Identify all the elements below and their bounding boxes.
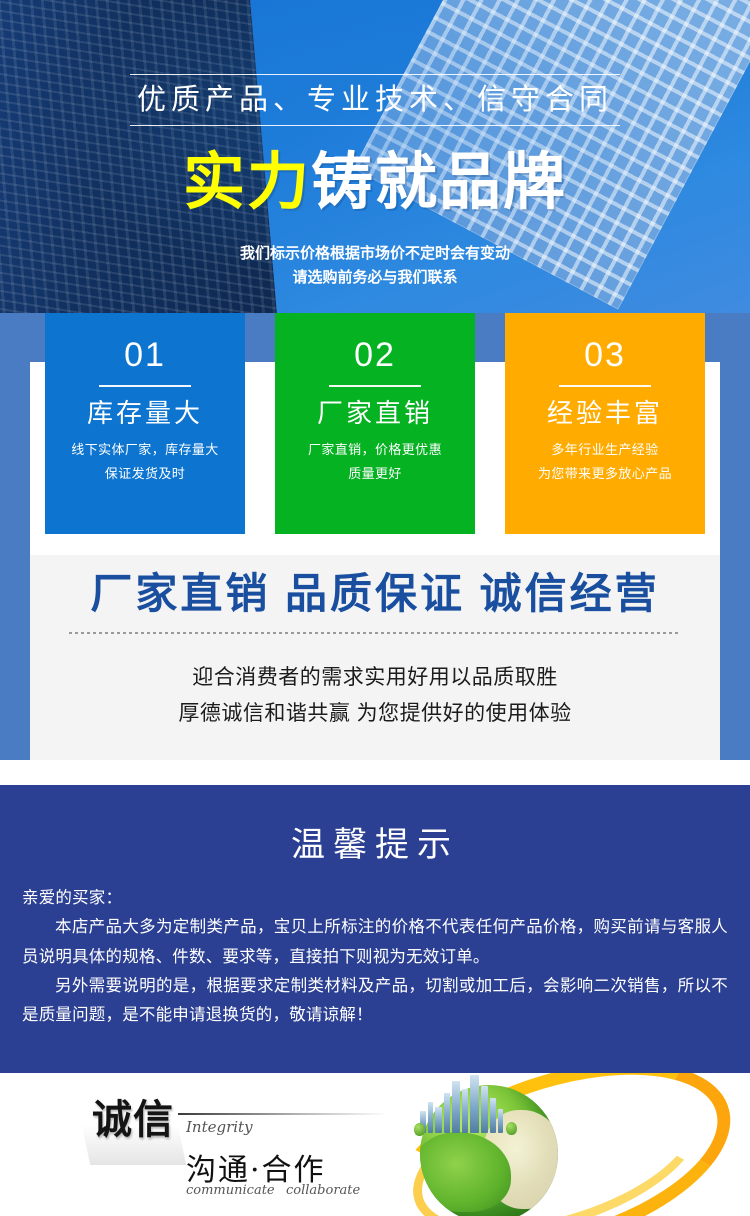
promo-page: 优质产品、专业技术、信守合同 实力铸就品牌 我们标示价格根据市场价不定时会有变动… (0, 0, 750, 1216)
hero-eyebrow-block: 优质产品、专业技术、信守合同 (130, 74, 620, 126)
feature-card-03[interactable]: 03 经验丰富 多年行业生产经验 为您带来更多放心产品 (505, 313, 705, 534)
feature-card-desc-line-2: 保证发货及时 (71, 462, 218, 486)
feature-card-01[interactable]: 01 库存量大 线下实体厂家，库存量大 保证发货及时 (45, 313, 245, 534)
footer-horizontal-rule (178, 1113, 388, 1115)
feature-card-divider (329, 385, 421, 387)
panel-blue-frame-right (720, 313, 750, 760)
footer-integrity-en: Integrity (186, 1118, 253, 1136)
hero-eyebrow-text: 优质产品、专业技术、信守合同 (130, 75, 620, 125)
warm-tips-section: 温馨提示 亲爱的买家： 本店产品大多为定制类产品，宝贝上所标注的价格不代表任何产… (0, 785, 750, 1073)
feature-card-title: 库存量大 (87, 398, 203, 429)
globe-graphic (390, 1073, 750, 1216)
feature-card-desc-line-2: 质量更好 (308, 462, 442, 486)
footer-integrity-cn: 诚信 (92, 1087, 174, 1145)
feature-card-desc-line-1: 多年行业生产经验 (538, 438, 672, 462)
warm-tips-body: 亲爱的买家： 本店产品大多为定制类产品，宝贝上所标注的价格不代表任何产品价格，购… (22, 884, 728, 1031)
panel-blue-frame-left (0, 313, 30, 760)
feature-card-number: 01 (124, 338, 166, 372)
slogan-dotted-divider (69, 632, 681, 634)
feature-card-description: 线下实体厂家，库存量大 保证发货及时 (71, 438, 218, 486)
hero-price-note: 我们标示价格根据市场价不定时会有变动 请选购前务必与我们联系 (0, 242, 750, 291)
footer-collaborate-en: collaborate (286, 1183, 360, 1198)
feature-card-number: 03 (584, 338, 626, 372)
slogan-block: 厂家直销 品质保证 诚信经营 迎合消费者的需求实用好用以品质取胜 厚德诚信和谐共… (30, 555, 720, 760)
feature-card-title: 厂家直销 (317, 398, 433, 429)
feature-card-divider (99, 385, 191, 387)
slogan-main-text: 厂家直销 品质保证 诚信经营 (30, 568, 720, 619)
feature-card-description: 多年行业生产经验 为您带来更多放心产品 (538, 438, 672, 486)
feature-card-desc-line-1: 线下实体厂家，库存量大 (71, 438, 218, 462)
hero-banner: 优质产品、专业技术、信守合同 实力铸就品牌 我们标示价格根据市场价不定时会有变动… (0, 0, 750, 313)
footer-communicate-en: communicate (186, 1183, 275, 1198)
footer-integrity-banner: 诚信 Integrity 沟通·合作 communicate collabora… (0, 1073, 750, 1216)
eyebrow-rule-bottom (130, 125, 620, 126)
feature-card-divider (559, 385, 651, 387)
hero-headline: 实力铸就品牌 (0, 152, 750, 214)
warm-tips-paragraph-2: 另外需要说明的是，根据要求定制类材料及产品，切割或加工后，会影响二次销售，所以不… (22, 972, 728, 1031)
feature-card-list: 01 库存量大 线下实体厂家，库存量大 保证发货及时 02 厂家直销 厂家直销，… (45, 313, 705, 534)
slogan-sub-line-2: 厚德诚信和谐共赢 为您提供好的使用体验 (30, 696, 720, 732)
hero-note-line-1: 我们标示价格根据市场价不定时会有变动 (0, 242, 750, 266)
warm-tips-paragraph-1: 本店产品大多为定制类产品，宝贝上所标注的价格不代表任何产品价格，购买前请与客服人… (22, 913, 728, 972)
warm-tips-greeting: 亲爱的买家： (22, 884, 728, 913)
hero-headline-highlight: 实力 (183, 148, 311, 217)
hero-headline-rest: 铸就品牌 (311, 148, 567, 217)
slogan-sub-line-1: 迎合消费者的需求实用好用以品质取胜 (30, 660, 720, 696)
feature-card-number: 02 (354, 338, 396, 372)
warm-tips-title: 温馨提示 (0, 785, 750, 866)
slogan-sub-text: 迎合消费者的需求实用好用以品质取胜 厚德诚信和谐共赢 为您提供好的使用体验 (30, 660, 720, 732)
feature-card-02[interactable]: 02 厂家直销 厂家直销，价格更优惠 质量更好 (275, 313, 475, 534)
feature-card-title: 经验丰富 (547, 398, 663, 429)
hero-note-line-2: 请选购前务必与我们联系 (0, 266, 750, 290)
city-skyline-icon (418, 1073, 514, 1133)
feature-card-desc-line-2: 为您带来更多放心产品 (538, 462, 672, 486)
feature-card-desc-line-1: 厂家直销，价格更优惠 (308, 438, 442, 462)
feature-card-description: 厂家直销，价格更优惠 质量更好 (308, 438, 442, 486)
